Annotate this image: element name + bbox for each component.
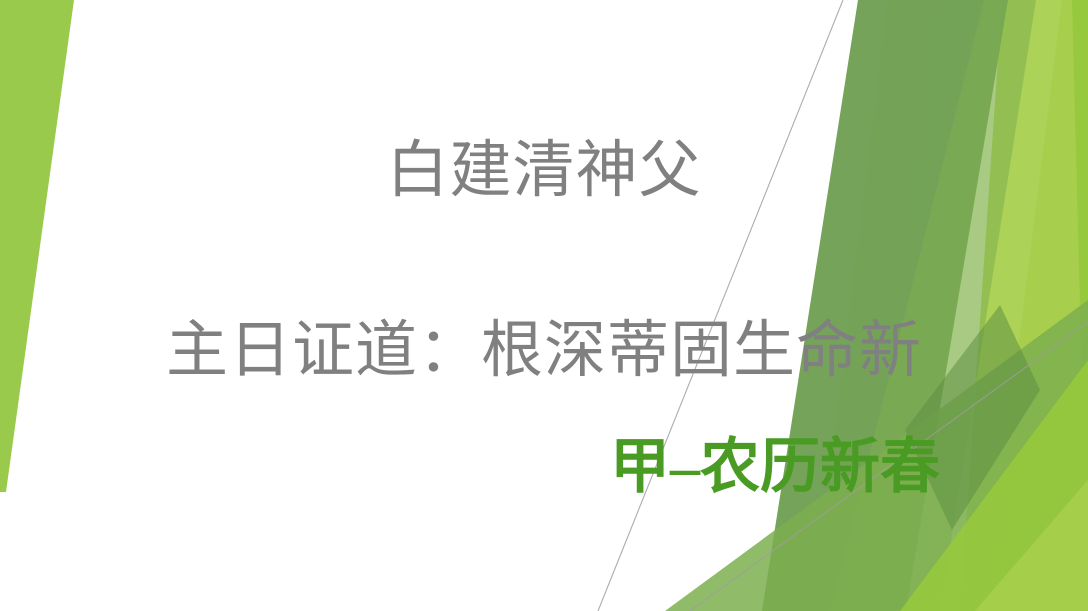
slide-text-layer: 白建清神父 主日证道：根深蒂固生命新 甲–农历新春 — [0, 0, 1088, 611]
presentation-slide: 白建清神父 主日证道：根深蒂固生命新 甲–农历新春 — [0, 0, 1088, 611]
slide-title: 白建清神父 — [0, 140, 1088, 202]
slide-subtitle: 主日证道：根深蒂固生命新 — [0, 320, 1088, 382]
slide-accent-text: 甲–农历新春 — [0, 437, 940, 497]
